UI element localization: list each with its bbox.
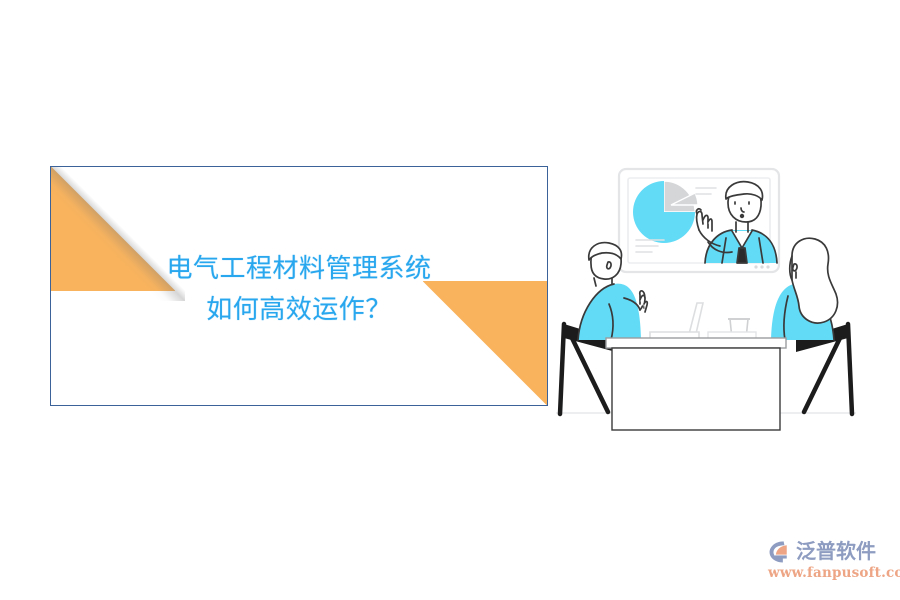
- illustration-video-conference: [556, 152, 856, 452]
- page-title-line-1: 电气工程材料管理系统: [51, 249, 547, 290]
- desk: [606, 338, 786, 430]
- slide-canvas: { "slide": { "background_color": "#fffff…: [0, 0, 900, 600]
- watermark-url: www.fanpusoft.com: [768, 567, 890, 581]
- page-title: 电气工程材料管理系统 如何高效运作？: [51, 249, 547, 331]
- page-title-line-2: 如何高效运作？: [51, 290, 547, 331]
- laptop: [650, 303, 703, 339]
- watermark: 泛普软件 www.fanpusoft.com: [768, 536, 890, 588]
- fanpu-logo-icon: [768, 539, 793, 564]
- watermark-brand: 泛普软件: [796, 541, 876, 561]
- monitor-status-dots: [754, 265, 769, 268]
- attendee-right: [771, 238, 838, 340]
- paper-cup: [708, 319, 756, 340]
- wall-monitor: [619, 169, 779, 272]
- banner-card: 电气工程材料管理系统 如何高效运作？: [50, 166, 548, 406]
